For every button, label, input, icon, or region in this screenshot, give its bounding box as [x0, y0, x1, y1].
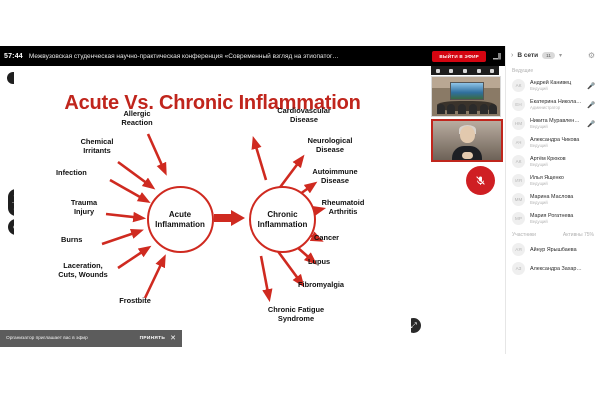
participant-role: Ведущий	[530, 162, 582, 167]
avatar: АЗ	[512, 262, 525, 275]
attendee-silhouette	[437, 104, 445, 114]
list-item[interactable]: АК Андрей Канивец Ведущий 🎤	[506, 76, 600, 95]
node-chronic-inflammation: Chronic Inflammation	[249, 186, 316, 253]
list-item[interactable]: ЕН Екатерина Никола… Администратор 🎤	[506, 95, 600, 114]
outcome-label-chronic-fatigue-syndrome: Chronic Fatigue Syndrome	[256, 306, 336, 324]
attendee-silhouette	[458, 104, 466, 114]
avatar: АЯ	[512, 243, 525, 256]
participant-name: Айнур Ярышбаева	[530, 247, 582, 253]
video-column	[425, 66, 505, 354]
participant-role: Ведущий	[530, 143, 582, 148]
sidebar-header: › В сети 11 ▾ ⚙	[506, 46, 600, 64]
avatar: ИЯ	[512, 174, 525, 187]
section-participants: Участники Активны 75%	[506, 228, 600, 240]
participant-name-block: Никита Муравлен… Ведущий	[530, 118, 582, 129]
outcome-label-neurological-disease: Neurological Disease	[292, 137, 368, 155]
outcome-label-cancer: Cancer	[314, 234, 372, 243]
participant-name-block: Марина Маслова Ведущий	[530, 194, 582, 205]
attendee-silhouette	[480, 104, 488, 114]
conference-topbar: 57:44 Межвузовская студенческая научно-п…	[0, 46, 505, 66]
avatar: ММ	[512, 193, 525, 206]
avatar: АК	[512, 155, 525, 168]
projector-screen	[450, 82, 485, 100]
participant-name: Александра Захарова	[530, 266, 582, 272]
list-item[interactable]: АЧ Александра Чикова Ведущий	[506, 133, 600, 152]
invite-toast-message: Организатор приглашает вас в эфир	[6, 336, 135, 341]
speaker-video-feed	[433, 121, 501, 160]
cause-label-trauma-injury: Trauma Injury	[58, 199, 110, 217]
participant-name-block: Мария Рогатнева Ведущий	[530, 213, 582, 224]
speaker-head	[460, 126, 475, 143]
minimize-icon[interactable]	[492, 52, 501, 60]
close-icon[interactable]: ✕	[170, 335, 176, 342]
participant-name-block: Андрей Канивец Ведущий	[530, 80, 582, 91]
person-icon[interactable]	[463, 69, 467, 73]
room-video-feed	[432, 77, 500, 116]
outcome-label-autoimmune-disease: Autoimmune Disease	[299, 168, 371, 186]
avatar: НМ	[512, 117, 525, 130]
conference-title: Межвузовская студенческая научно-практич…	[29, 53, 427, 60]
participant-role: Ведущий	[530, 124, 582, 129]
participant-name-block: Екатерина Никола… Администратор	[530, 99, 582, 110]
node-acute-inflammation: Acute Inflammation	[147, 186, 214, 253]
chevron-down-icon[interactable]: ▾	[559, 52, 562, 59]
participant-name-block: Айнур Ярышбаева	[530, 247, 582, 253]
cause-label-chemical-irritants: Chemical Irritants	[66, 138, 128, 156]
mic-muted-icon[interactable]: 🎤	[587, 101, 594, 109]
participant-name-block: Артём Крюков Ведущий	[530, 156, 582, 167]
mic-icon[interactable]: 🎤	[587, 120, 594, 128]
list-item[interactable]: НМ Никита Муравлен… Ведущий 🎤	[506, 114, 600, 133]
presentation-slide[interactable]: Acute Vs. Chronic Inflammation	[14, 68, 411, 340]
outcome-label-lupus: Lupus	[308, 258, 360, 267]
session-timer: 57:44	[4, 53, 23, 60]
cause-label-burns: Burns	[61, 236, 107, 245]
more-options-icon[interactable]	[490, 69, 494, 73]
online-count-badge: 11	[542, 52, 555, 59]
participant-name-block: Александра Захарова	[530, 266, 582, 272]
section-label: Участники	[512, 232, 536, 238]
progression-arrow-icon	[214, 210, 245, 226]
video-toolbar[interactable]	[431, 66, 499, 75]
go-live-button[interactable]: ВЫЙТИ В ЭФИР	[432, 51, 486, 62]
cause-label-frostbite: Frostbite	[109, 297, 161, 306]
avatar: МР	[512, 212, 525, 225]
attendee-silhouette	[447, 104, 455, 114]
section-hosts: Ведущие	[506, 64, 600, 76]
participant-role: Ведущий	[530, 181, 582, 186]
list-item[interactable]: ММ Марина Маслова Ведущий	[506, 190, 600, 209]
invite-toast: Организатор приглашает вас в эфир ПРИНЯТ…	[0, 330, 182, 347]
section-meta: Активны 75%	[563, 232, 594, 238]
participant-role: Ведущий	[530, 86, 582, 91]
chevron-right-icon[interactable]: ›	[511, 52, 513, 59]
outcome-label-cardiovascular-disease: Cardiovascular Disease	[262, 107, 346, 125]
slide-stage: 58 из 140 + − ↺ ⤢ Acute Vs. Chronic Infl…	[0, 66, 425, 354]
cause-label-infection: Infection	[56, 169, 118, 178]
participant-name-block: Илья Ященко Ведущий	[530, 175, 582, 186]
conference-app: 57:44 Межвузовская студенческая научно-п…	[0, 46, 600, 354]
participants-sidebar: › В сети 11 ▾ ⚙ Ведущие АК Андрей Каниве…	[505, 46, 600, 354]
participant-name-block: Александра Чикова Ведущий	[530, 137, 582, 148]
participant-role: Ведущий	[530, 219, 582, 224]
sidebar-title: В сети	[517, 52, 538, 59]
mic-mute-button[interactable]	[466, 166, 495, 195]
mic-muted-icon	[475, 175, 486, 186]
attendee-silhouette	[469, 104, 477, 114]
list-item[interactable]: ИЯ Илья Ященко Ведущий	[506, 171, 600, 190]
outcome-label-fibromyalgia: Fibromyalgia	[298, 281, 364, 290]
participant-role: Ведущий	[530, 200, 582, 205]
speaker-hands	[462, 152, 473, 159]
mic-muted-icon[interactable]: 🎤	[587, 82, 594, 90]
avatar: АЧ	[512, 136, 525, 149]
section-label: Ведущие	[512, 68, 533, 74]
list-item[interactable]: АК Артём Крюков Ведущий	[506, 152, 600, 171]
screen-share-icon[interactable]	[477, 69, 481, 73]
video-tile-active-speaker[interactable]	[431, 119, 503, 162]
avatar: ЕН	[512, 98, 525, 111]
mic-icon[interactable]	[449, 69, 453, 73]
list-item[interactable]: АЯ Айнур Ярышбаева	[506, 240, 600, 259]
avatar: АК	[512, 79, 525, 92]
outcome-label-rheumatoid-arthritis: Rheumatoid Arthritis	[306, 199, 380, 217]
attendee-silhouette	[489, 104, 497, 114]
camera-icon[interactable]	[436, 69, 440, 73]
cause-label-laceration-cuts-wounds: Laceration, Cuts, Wounds	[43, 262, 123, 280]
screenshot-canvas: 57:44 Межвузовская студенческая научно-п…	[0, 0, 600, 400]
video-tile-room[interactable]	[431, 76, 501, 117]
participant-role: Администратор	[530, 105, 582, 110]
list-item[interactable]: МР Мария Рогатнева Ведущий	[506, 209, 600, 228]
gear-icon[interactable]: ⚙	[588, 51, 595, 60]
list-item[interactable]: АЗ Александра Захарова	[506, 259, 600, 278]
cause-label-allergic-reaction: Allergic Reaction	[106, 110, 168, 128]
slide-title: Acute Vs. Chronic Inflammation	[14, 92, 411, 115]
invite-accept-button[interactable]: ПРИНЯТЬ	[140, 336, 166, 341]
